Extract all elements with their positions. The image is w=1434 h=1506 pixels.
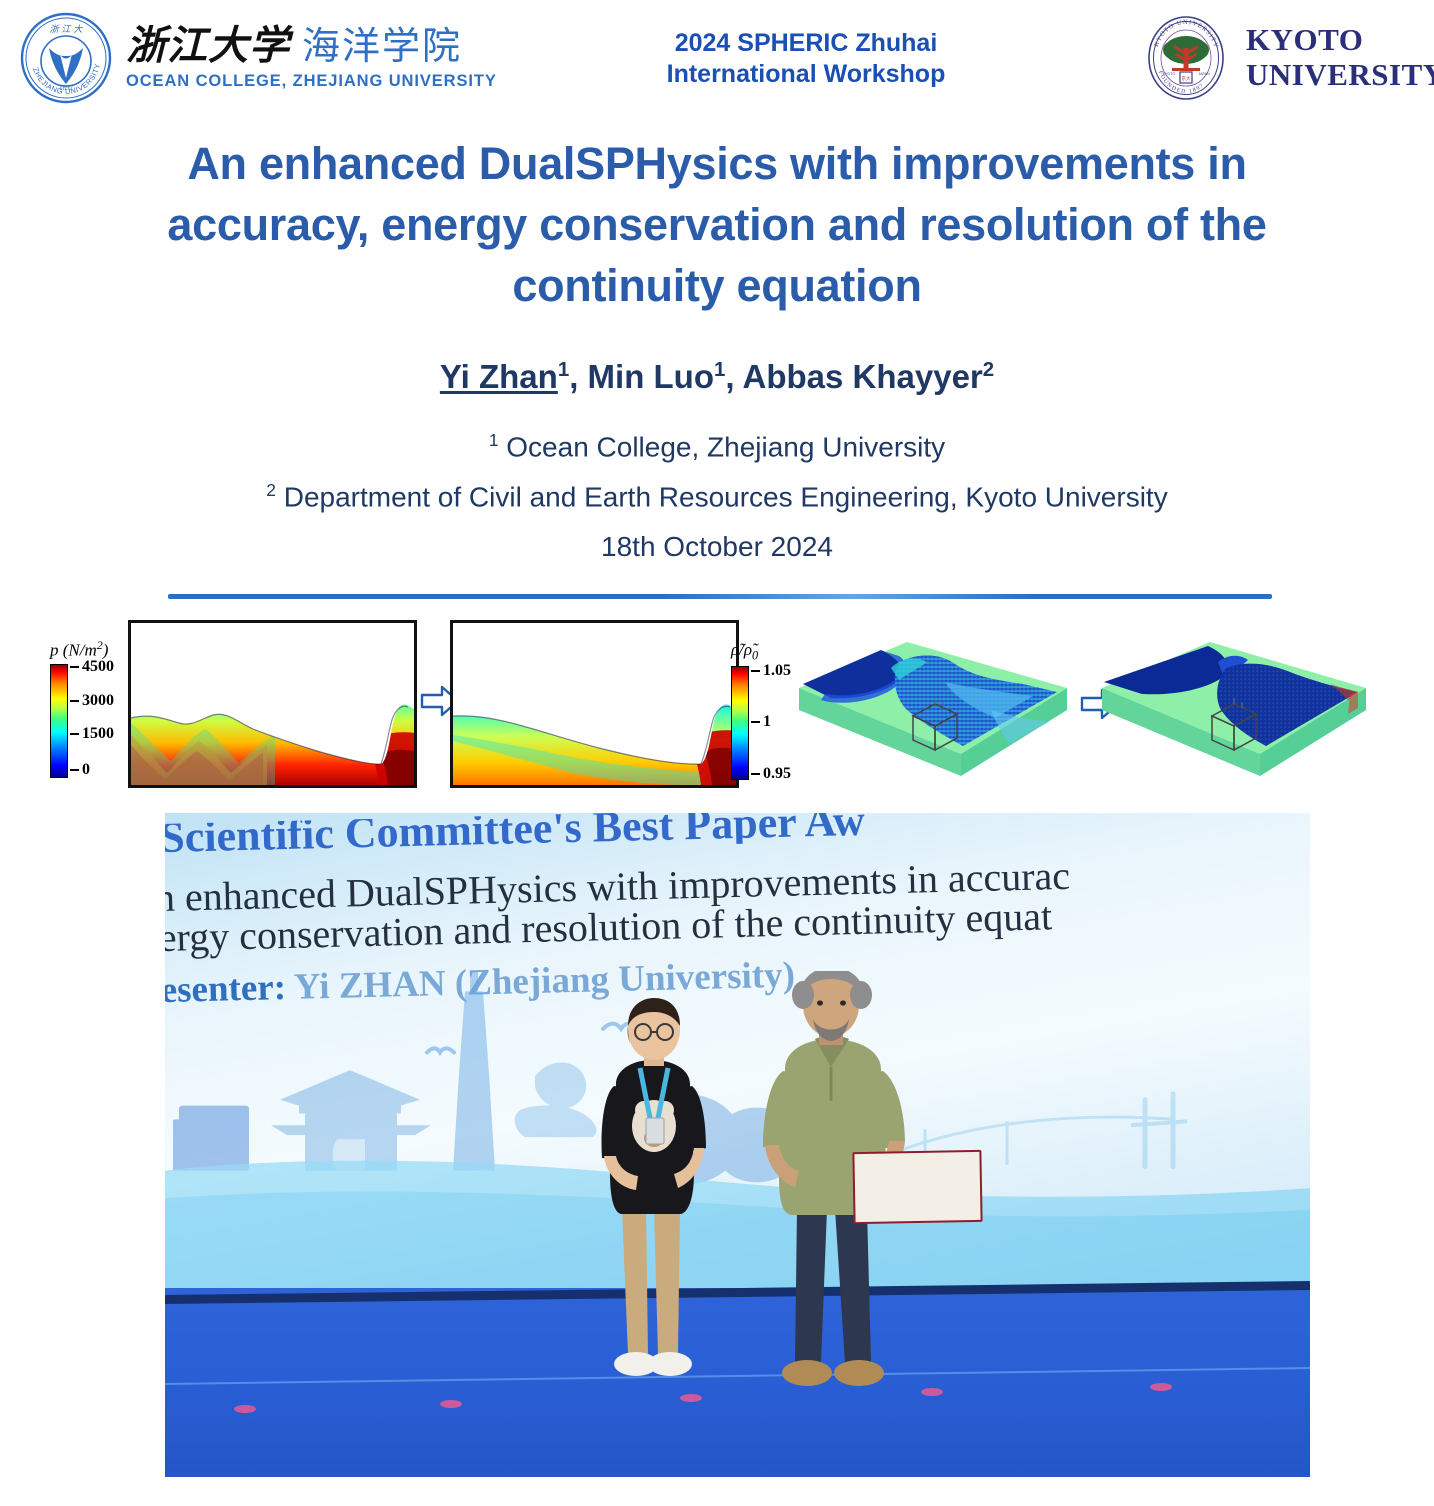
colorbar-density-label: ρ̃/ρ̃0 bbox=[731, 640, 758, 663]
kyoto-university-wordmark: KYOTO UNIVERSITY bbox=[1246, 23, 1434, 92]
page-header: 浙 江 大 1897 ZHEJIANG UNIVERSITY 浙江大学 海洋学院… bbox=[0, 0, 1434, 118]
figure-strip: p (N/m2) 4500 3000 1500 0 bbox=[0, 612, 1434, 802]
author-2-sup: 1 bbox=[714, 358, 725, 381]
zhejiang-university-wordmark: 浙江大学 海洋学院 OCEAN COLLEGE, ZHEJIANG UNIVER… bbox=[126, 26, 497, 90]
kyoto-university-logo-block: 京大 KYOTO JAPAN KYOTO UNIVERSITY FOUNDED … bbox=[1142, 14, 1434, 102]
figure-panel-b bbox=[450, 620, 739, 788]
title-line-3: continuity equation bbox=[70, 256, 1364, 317]
author-1-sup: 1 bbox=[558, 358, 569, 381]
affiliation-2-sup: 2 bbox=[266, 480, 276, 500]
workshop-title-line1: 2024 SPHERIC Zhuhai bbox=[596, 28, 1016, 59]
zhejiang-university-logo-block: 浙 江 大 1897 ZHEJIANG UNIVERSITY 浙江大学 海洋学院… bbox=[16, 8, 497, 108]
award-recipient-figure bbox=[570, 998, 740, 1418]
cb-p-tick-2: 1500 bbox=[82, 725, 114, 743]
author-list: Yi Zhan1, Min Luo1, Abbas Khayyer2 bbox=[70, 358, 1364, 396]
cb-p-tick-0: 4500 bbox=[82, 658, 114, 676]
affiliation-2-text: Department of Civil and Earth Resources … bbox=[276, 481, 1168, 512]
figure-panel-d bbox=[1080, 622, 1370, 782]
title-line-2: accuracy, energy conservation and resolu… bbox=[70, 195, 1364, 256]
cb-p-tick-3: 0 bbox=[82, 761, 90, 779]
zju-chinese-name: 浙江大学 bbox=[126, 26, 290, 66]
colorbar-density-gradient bbox=[731, 666, 749, 780]
workshop-title-line2: International Workshop bbox=[596, 59, 1016, 90]
affiliation-1: 1 Ocean College, Zhejiang University bbox=[70, 430, 1364, 463]
svg-text:浙 江 大: 浙 江 大 bbox=[50, 24, 84, 35]
author-sep-1: , bbox=[569, 358, 587, 395]
svg-text:京大: 京大 bbox=[1181, 75, 1191, 82]
figure-panel-a bbox=[128, 620, 417, 788]
presentation-date: 18th October 2024 bbox=[70, 531, 1364, 563]
floor-marker-2 bbox=[440, 1400, 462, 1408]
section-divider bbox=[168, 594, 1272, 599]
certificate bbox=[852, 1150, 982, 1224]
colorbar-pressure-gradient bbox=[50, 664, 68, 778]
kyoto-wordmark-line2: UNIVERSITY bbox=[1246, 58, 1434, 93]
cb-rho-tick-1: 1 bbox=[763, 713, 771, 731]
award-ceremony-photo: Scientific Committee's Best Paper Aw An … bbox=[165, 813, 1310, 1477]
floor-marker-5 bbox=[1150, 1383, 1172, 1391]
author-1-name: Yi Zhan bbox=[440, 358, 558, 395]
zhejiang-university-seal-icon: 浙 江 大 1897 ZHEJIANG UNIVERSITY bbox=[16, 8, 116, 108]
colorbar-pressure-ticks: 4500 3000 1500 0 bbox=[70, 664, 134, 776]
kyoto-university-seal-icon: 京大 KYOTO JAPAN KYOTO UNIVERSITY FOUNDED … bbox=[1142, 14, 1230, 102]
author-3-name: Abbas Khayyer bbox=[743, 358, 983, 395]
affiliation-1-text: Ocean College, Zhejiang University bbox=[498, 431, 945, 462]
cb-rho-tick-0: 1.05 bbox=[763, 662, 791, 680]
presentation-title: An enhanced DualSPHysics with improvemen… bbox=[70, 134, 1364, 316]
cb-p-tick-1: 3000 bbox=[82, 692, 114, 710]
author-sep-2: , bbox=[725, 358, 742, 395]
svg-text:JAPAN: JAPAN bbox=[1198, 72, 1210, 76]
kyoto-wordmark-line1: KYOTO bbox=[1246, 23, 1434, 58]
author-2-name: Min Luo bbox=[588, 358, 714, 395]
figure-panel-c bbox=[795, 622, 1075, 782]
colorbar-pressure: p (N/m2) 4500 3000 1500 0 bbox=[50, 638, 134, 778]
author-3-sup: 2 bbox=[983, 358, 994, 381]
floor-marker-1 bbox=[234, 1405, 256, 1413]
zju-chinese-college: 海洋学院 bbox=[302, 27, 462, 65]
workshop-title: 2024 SPHERIC Zhuhai International Worksh… bbox=[596, 28, 1016, 89]
title-line-1: An enhanced DualSPHysics with improvemen… bbox=[70, 134, 1364, 195]
cb-rho-tick-2: 0.95 bbox=[763, 765, 791, 783]
zju-english-name: OCEAN COLLEGE, ZHEJIANG UNIVERSITY bbox=[126, 73, 497, 90]
affiliation-2: 2 Department of Civil and Earth Resource… bbox=[70, 480, 1364, 513]
